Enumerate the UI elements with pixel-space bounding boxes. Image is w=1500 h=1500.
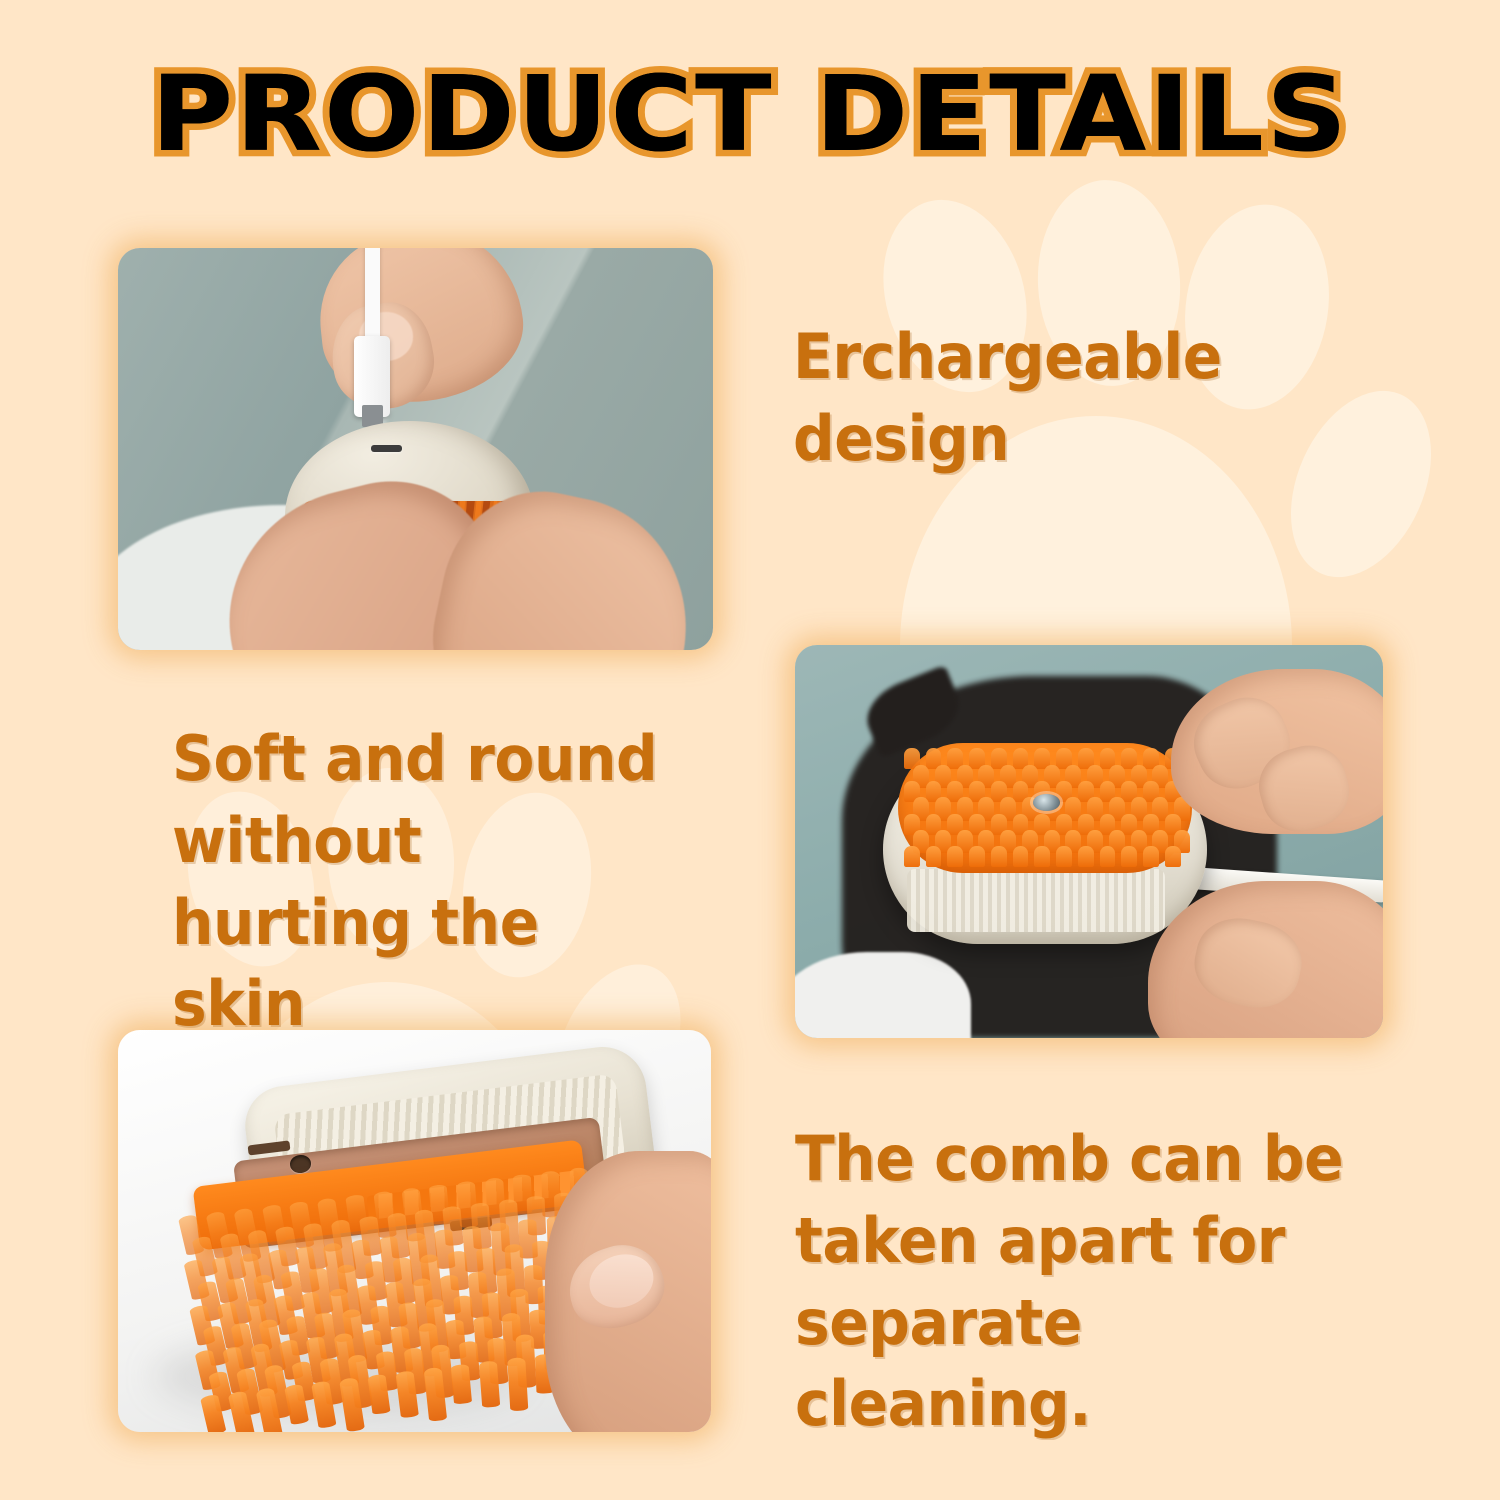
page-title-fill: PRODUCT DETAILS [0,62,1500,166]
photo-detached-comb [118,1030,711,1432]
feature-text-soft-round: Soft and round without hurting the skin [172,718,680,1045]
infographic-canvas: PRODUCT DETAILS PRODUCT DETAILS [0,0,1500,1500]
photo-brush-top [795,645,1383,1038]
paw-toe [1264,369,1459,599]
bristle [969,846,985,867]
bristle [904,846,920,867]
photo-brush-top-content [795,645,1383,1038]
bristle [1056,846,1072,867]
bristle [1165,846,1181,867]
bristle [947,846,963,867]
steam-hole [1033,794,1060,811]
charging-port [371,445,402,452]
photo-charging-content [118,248,713,650]
feature-text-detachable-comb: The comb can be taken apart for separate… [795,1118,1359,1445]
white-towel [795,952,971,1038]
shell-ribs [907,869,1166,932]
bristle [1034,846,1050,867]
usb-cable [365,248,380,349]
photo-detached-comb-content [118,1030,711,1432]
feature-text-rechargeable: Erchargeable design [793,316,1282,480]
bristle [1100,846,1116,867]
bristle [1121,846,1137,867]
bristle [991,846,1007,867]
bristle [1078,846,1094,867]
bristle [1013,846,1029,867]
bristle [1143,846,1159,867]
bristle [926,846,942,867]
bristle [507,1357,528,1411]
photo-charging [118,248,713,650]
